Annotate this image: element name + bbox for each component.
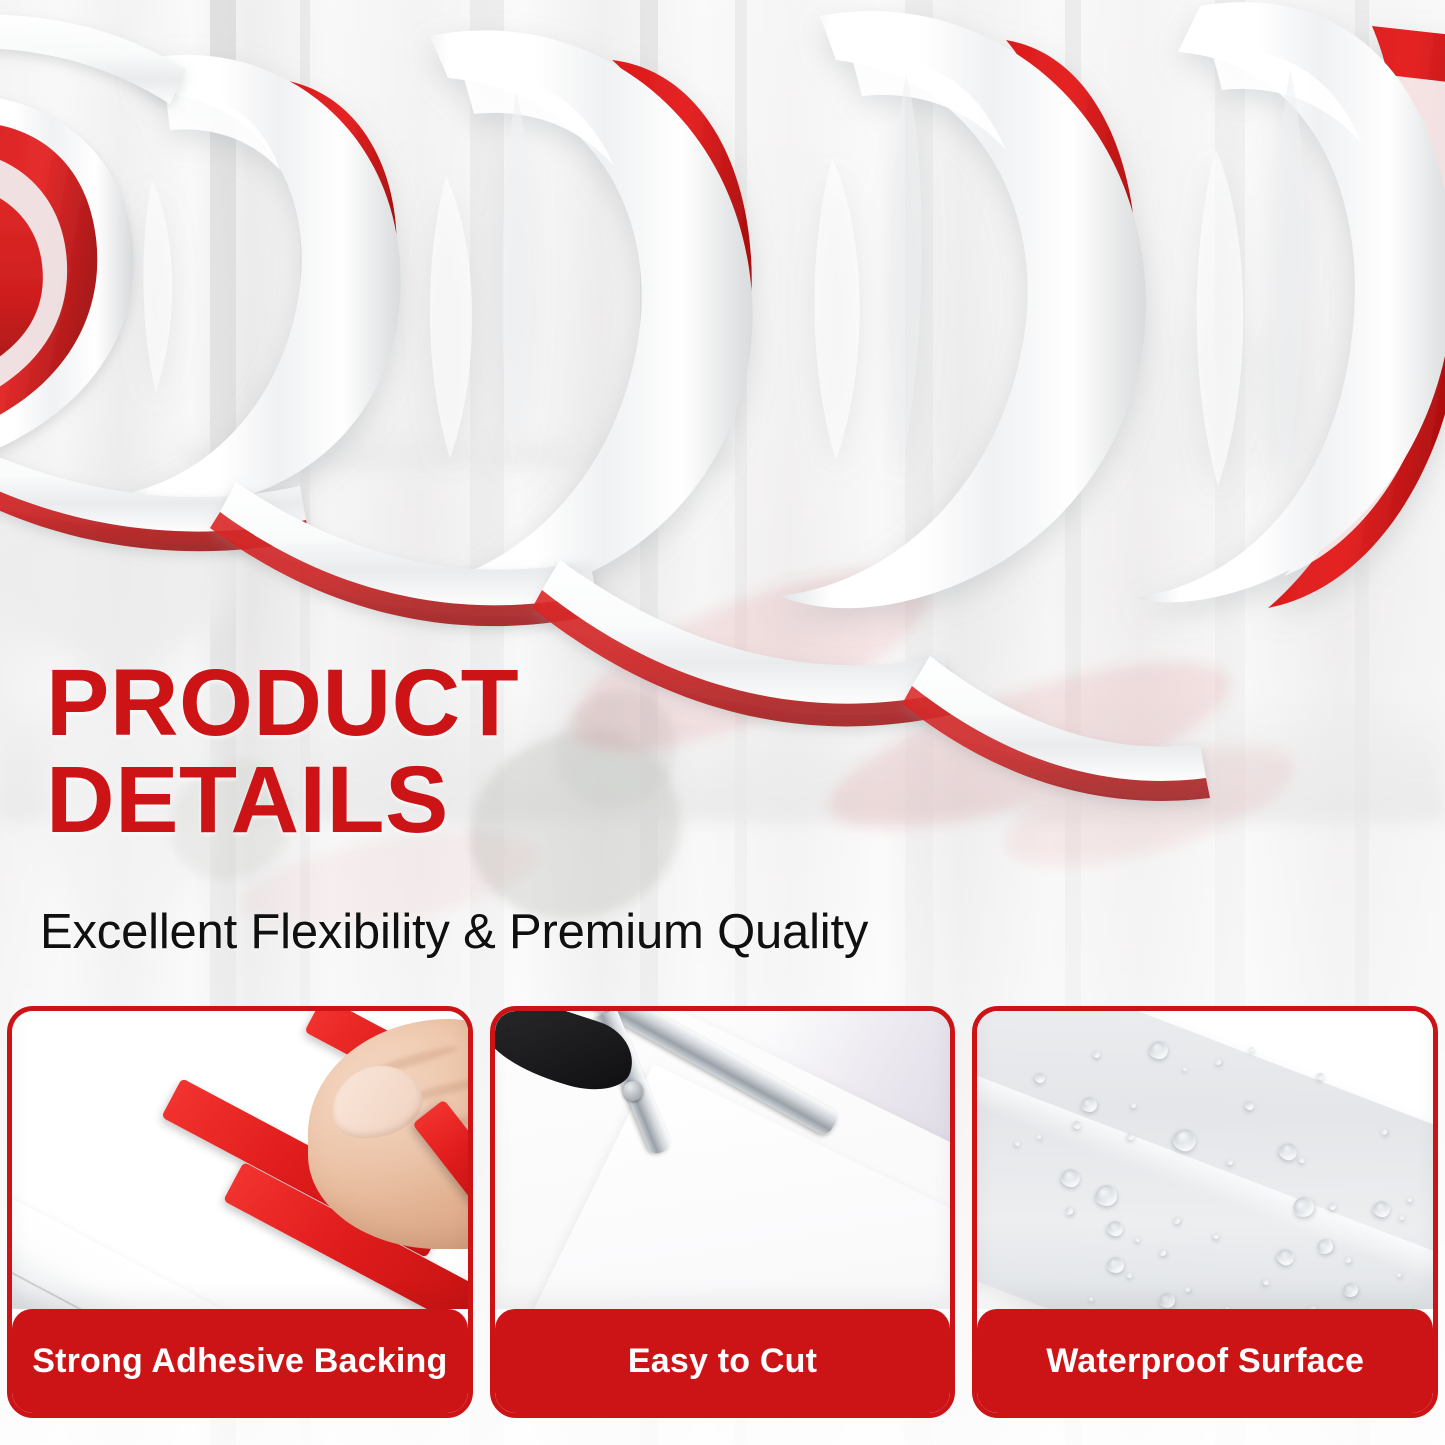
headline-line-1: PRODUCT [46,655,519,752]
feature-card-waterproof-surface[interactable]: Waterproof Surface [972,1006,1438,1418]
headline-line-2: DETAILS [46,752,519,849]
feature-card-strong-adhesive-backing[interactable]: Strong Adhesive Backing [7,1006,473,1418]
scissors-pivot [623,1081,643,1101]
feature-card-label: Strong Adhesive Backing [12,1309,468,1413]
feature-card-label: Waterproof Surface [977,1309,1433,1413]
water-droplet [1093,1051,1100,1058]
page-subtitle: Excellent Flexibility & Premium Quality [40,903,868,961]
feature-card-easy-to-cut[interactable]: Easy to Cut [490,1006,956,1418]
feature-card-label: Easy to Cut [495,1309,951,1413]
easy-to-cut-photo [495,1011,951,1309]
product-details-banner: PRODUCT DETAILS Excellent Flexibility & … [0,0,1445,1445]
waterproof-surface-photo [977,1011,1433,1309]
feature-card-list: Strong Adhesive Backing Easy to Cut [7,1006,1438,1418]
page-title: PRODUCT DETAILS [46,655,519,849]
adhesive-backing-photo [12,1011,468,1309]
